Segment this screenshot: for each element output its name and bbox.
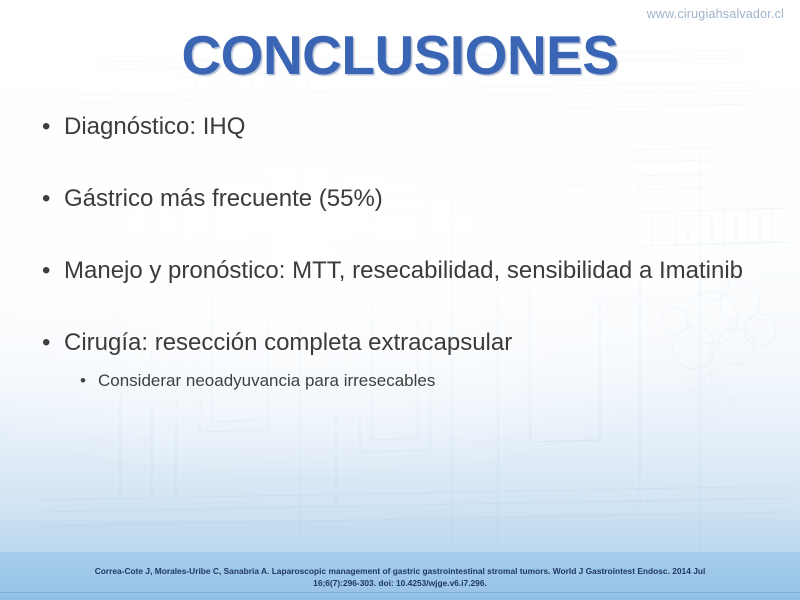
footer-divider (0, 592, 800, 593)
bullet-dot-icon: • (42, 112, 64, 142)
bullet-text: Diagnóstico: IHQ (64, 112, 245, 142)
bullet-item-1: • Diagnóstico: IHQ (42, 112, 770, 142)
bullet-dot-icon: • (42, 184, 64, 214)
bullet-dot-icon: • (42, 256, 64, 286)
bullet-item-3: • Manejo y pronóstico: MTT, resecabilida… (42, 256, 770, 286)
sub-bullet-item-1: • Considerar neoadyuvancia para irreseca… (80, 370, 770, 392)
site-url-label: www.cirugiahsalvador.cl (647, 7, 784, 21)
citation-line-1: Correa-Cote J, Morales-Uribe C, Sanabria… (95, 566, 706, 576)
sub-bullet-text: Considerar neoadyuvancia para irresecabl… (98, 370, 435, 392)
bullet-item-4: • Cirugía: resección completa extracapsu… (42, 328, 770, 358)
bullet-list: • Diagnóstico: IHQ • Gástrico más frecue… (42, 112, 770, 392)
sub-bullet-dot-icon: • (80, 370, 98, 392)
citation-line-2: 16;6(7):296-303. doi: 10.4253/wjge.v6.i7… (34, 578, 766, 590)
bullet-text: Gástrico más frecuente (55%) (64, 184, 383, 214)
bullet-item-2: • Gástrico más frecuente (55%) (42, 184, 770, 214)
presentation-slide: www.cirugiahsalvador.cl CONCLUSIONES • D… (0, 0, 800, 600)
sub-bullet-list: • Considerar neoadyuvancia para irreseca… (80, 370, 770, 392)
slide-title: CONCLUSIONES (0, 23, 800, 87)
bullet-item-4-group: • Cirugía: resección completa extracapsu… (42, 328, 770, 392)
citation-footer: Correa-Cote J, Morales-Uribe C, Sanabria… (0, 566, 800, 589)
bullet-dot-icon: • (42, 328, 64, 358)
bullet-text: Manejo y pronóstico: MTT, resecabilidad,… (64, 256, 743, 286)
bullet-text: Cirugía: resección completa extracapsula… (64, 328, 512, 358)
